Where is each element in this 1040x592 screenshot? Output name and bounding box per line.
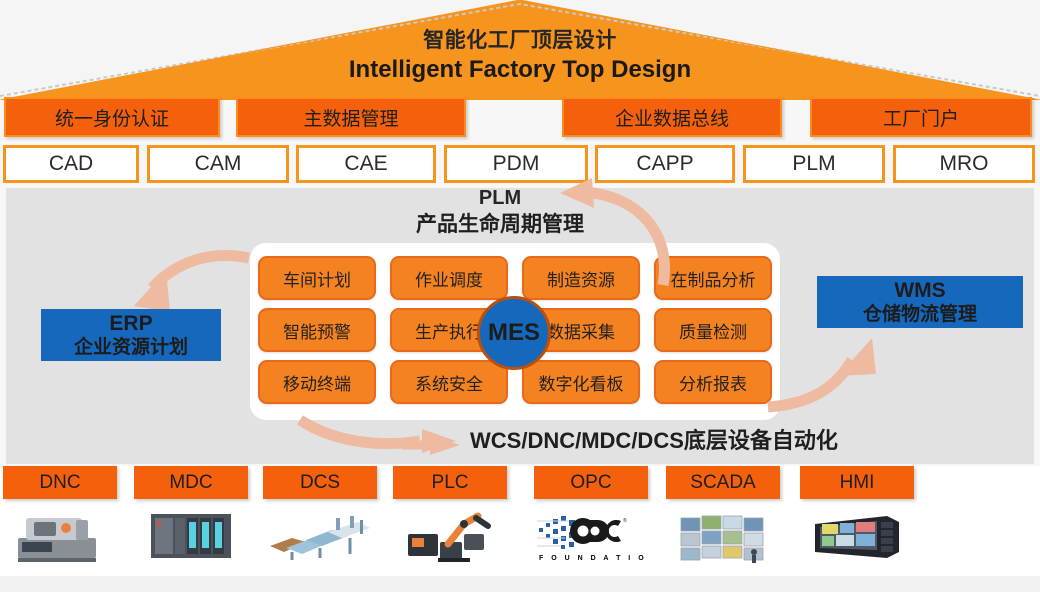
wms-block[interactable]: WMS 仓储物流管理 <box>817 276 1023 328</box>
opc-foundation-icon: ® F O U N D A T I O N <box>534 505 648 567</box>
bottom-footer-band <box>0 576 1040 592</box>
app-bar-cae[interactable]: CAE <box>296 145 436 183</box>
platform-bar-1[interactable]: 主数据管理 <box>236 97 466 137</box>
platform-bar-2[interactable]: 企业数据总线 <box>562 97 782 137</box>
wms-label-en: WMS <box>894 278 945 303</box>
svg-text:F O U N D A T I O N: F O U N D A T I O N <box>539 555 647 562</box>
device-label-scada: SCADA <box>666 466 780 499</box>
device-strip: DNC MDC <box>0 466 1040 576</box>
erp-label-en: ERP <box>109 311 152 336</box>
plm-title: PLM <box>300 186 700 211</box>
mes-module-8[interactable]: 移动终端 <box>258 360 376 404</box>
mes-module-0[interactable]: 车间计划 <box>258 256 376 300</box>
device-dcs[interactable]: DCS <box>263 466 377 567</box>
platform-bar-row: 统一身份认证 主数据管理 企业数据总线 工厂门户 <box>0 97 1040 139</box>
mes-module-11[interactable]: 分析报表 <box>654 360 772 404</box>
erp-label-cn: 企业资源计划 <box>74 336 188 360</box>
device-plc[interactable]: PLC <box>393 466 507 567</box>
svg-text:®: ® <box>623 517 627 524</box>
roof-header: 智能化工厂顶层设计 Intelligent Factory Top Design <box>0 0 1040 100</box>
cnc-machine-icon <box>3 505 117 567</box>
device-label-mdc: MDC <box>134 466 248 499</box>
mes-module-3[interactable]: 在制品分析 <box>654 256 772 300</box>
device-label-opc: OPC <box>534 466 648 499</box>
device-label-hmi: HMI <box>800 466 914 499</box>
device-dnc[interactable]: DNC <box>3 466 117 567</box>
device-label-plc: PLC <box>393 466 507 499</box>
device-label-dcs: DCS <box>263 466 377 499</box>
mes-module-2[interactable]: 制造资源 <box>522 256 640 300</box>
hmi-panel-icon <box>800 505 914 567</box>
erp-block[interactable]: ERP 企业资源计划 <box>41 309 221 361</box>
slide-root: 智能化工厂顶层设计 Intelligent Factory Top Design… <box>0 0 1040 592</box>
wcs-caption: WCS/DNC/MDC/DCS底层设备自动化 <box>470 428 940 454</box>
device-mdc[interactable]: MDC <box>134 466 248 567</box>
monitor-wall-icon <box>666 505 780 567</box>
mes-module-7[interactable]: 质量检测 <box>654 308 772 352</box>
device-scada[interactable]: SCADA <box>666 466 780 567</box>
wms-label-cn: 仓储物流管理 <box>863 303 977 327</box>
device-hmi[interactable]: HMI <box>800 466 914 567</box>
app-bar-cam[interactable]: CAM <box>147 145 289 183</box>
platform-bar-0[interactable]: 统一身份认证 <box>4 97 220 137</box>
mes-center-badge[interactable]: MES <box>477 296 551 370</box>
application-bar-row: CAD CAM CAE PDM CAPP PLM MRO <box>0 145 1040 185</box>
app-bar-plm[interactable]: PLM <box>743 145 885 183</box>
app-bar-cad[interactable]: CAD <box>3 145 139 183</box>
mes-module-4[interactable]: 智能预警 <box>258 308 376 352</box>
page-title-en: Intelligent Factory Top Design <box>0 56 1040 84</box>
plc-rack-icon <box>134 505 248 567</box>
mes-module-10[interactable]: 数字化看板 <box>522 360 640 404</box>
device-opc[interactable]: OPC <box>534 466 648 567</box>
page-title-cn: 智能化工厂顶层设计 <box>0 28 1040 54</box>
robot-arm-icon <box>393 505 507 567</box>
platform-bar-3[interactable]: 工厂门户 <box>810 97 1032 137</box>
conveyor-line-icon <box>263 505 377 567</box>
app-bar-mro[interactable]: MRO <box>893 145 1035 183</box>
app-bar-capp[interactable]: CAPP <box>595 145 735 183</box>
plm-subtitle: 产品生命周期管理 <box>270 212 730 238</box>
device-label-dnc: DNC <box>3 466 117 499</box>
mes-module-9[interactable]: 系统安全 <box>390 360 508 404</box>
app-bar-pdm[interactable]: PDM <box>444 145 588 183</box>
mes-module-1[interactable]: 作业调度 <box>390 256 508 300</box>
